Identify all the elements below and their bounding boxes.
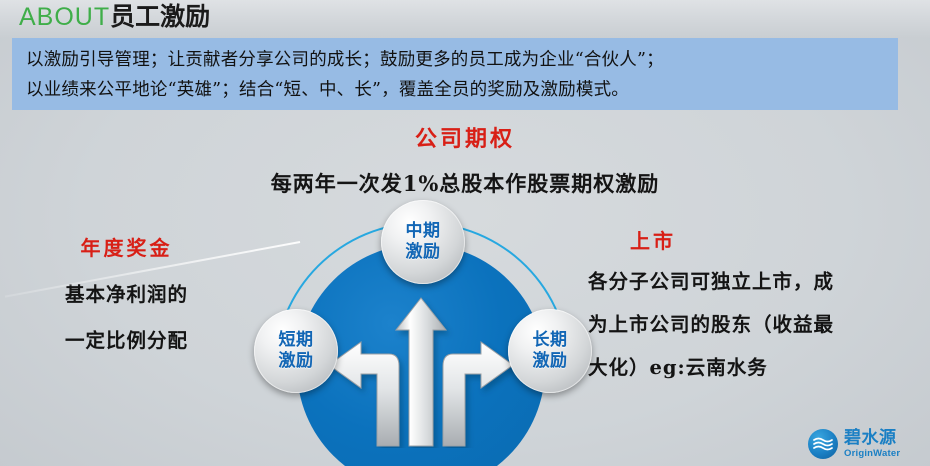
slide-canvas: ABOUT员工激励 以激励引导管理；让贡献者分享公司的成长；鼓励更多的员工成为企… xyxy=(0,0,930,466)
water-wave-icon xyxy=(808,429,838,459)
diagram-node-mid-term-line1: 中期 xyxy=(406,221,441,242)
diagram-node-short-term-line2: 激励 xyxy=(279,351,314,372)
intro-line-1: 以激励引导管理；让贡献者分享公司的成长；鼓励更多的员工成为企业“合伙人”； xyxy=(26,45,886,75)
right-column: 上市 各分子公司可独立上市，成 为上市公司的股东（收益最 大化）eg:云南水务 xyxy=(588,225,924,399)
three-way-arrow-icon xyxy=(321,296,521,448)
diagram-node-long-term[interactable]: 长期 激励 xyxy=(508,309,592,393)
diagram-node-short-term-line1: 短期 xyxy=(279,330,314,351)
right-column-body: 各分子公司可独立上市，成 为上市公司的股东（收益最 大化）eg:云南水务 xyxy=(588,270,924,380)
right-column-line-2: 为上市公司的股东（收益最 xyxy=(588,313,924,337)
left-column-line-2: 一定比例分配 xyxy=(14,329,239,353)
intro-callout-box: 以激励引导管理；让贡献者分享公司的成长；鼓励更多的员工成为企业“合伙人”； 以业… xyxy=(12,38,898,110)
company-logo: 碧水源 OriginWater xyxy=(808,428,920,460)
logo-text-en: OriginWater xyxy=(844,449,900,459)
logo-text-cn: 碧水源 xyxy=(844,430,900,447)
right-column-line-1: 各分子公司可独立上市，成 xyxy=(588,270,924,294)
incentive-cycle-diagram: 中期 激励 短期 激励 长期 激励 xyxy=(248,196,598,448)
center-heading: 公司期权 xyxy=(0,121,930,153)
left-column: 年度奖金 基本净利润的 一定比例分配 xyxy=(14,232,239,375)
diagram-node-long-term-line2: 激励 xyxy=(533,351,568,372)
page-title: ABOUT员工激励 xyxy=(19,1,210,33)
page-title-cn: 员工激励 xyxy=(110,2,210,31)
right-column-heading: 上市 xyxy=(588,225,924,254)
diagram-node-long-term-line1: 长期 xyxy=(533,330,568,351)
diagram-node-mid-term[interactable]: 中期 激励 xyxy=(381,200,465,284)
left-column-heading: 年度奖金 xyxy=(14,232,239,261)
page-title-en: ABOUT xyxy=(19,3,110,31)
intro-line-2: 以业绩来公平地论“英雄”；结合“短、中、长”，覆盖全员的奖励及激励模式。 xyxy=(26,75,886,105)
logo-text: 碧水源 OriginWater xyxy=(844,430,900,459)
right-column-line-3: 大化）eg:云南水务 xyxy=(588,356,924,380)
left-column-body: 基本净利润的 一定比例分配 xyxy=(14,283,239,353)
diagram-node-mid-term-line2: 激励 xyxy=(406,242,441,263)
diagram-node-short-term[interactable]: 短期 激励 xyxy=(254,309,338,393)
center-subheading: 每两年一次发1%总股本作股票期权激励 xyxy=(0,168,930,198)
